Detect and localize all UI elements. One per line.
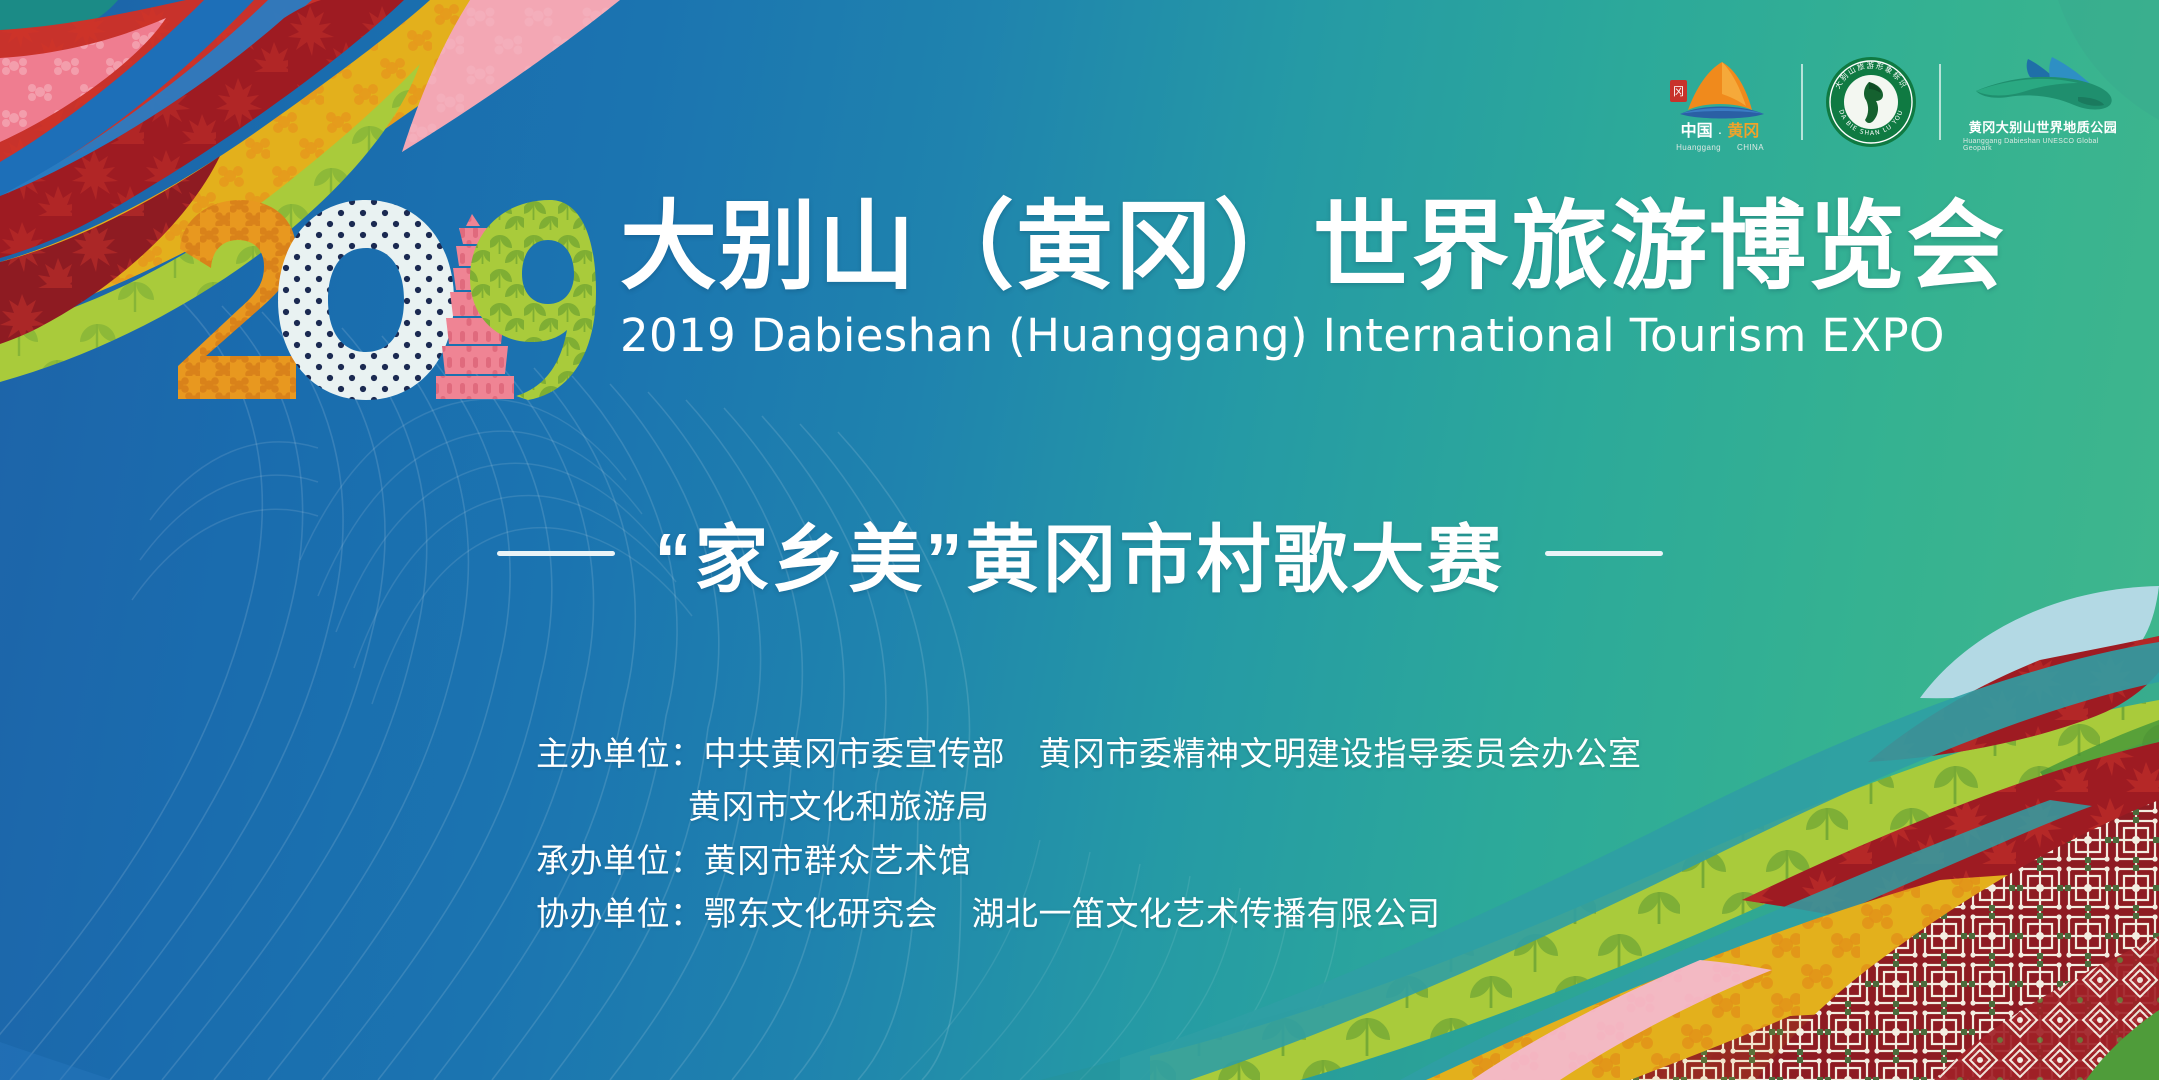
logo3-cn: 黄冈大别山世界地质公园 xyxy=(1969,117,2118,136)
logo1-en-left: Huanggang xyxy=(1676,143,1721,152)
geopark-mountain-icon xyxy=(1968,53,2118,115)
logo3-en: Huanggang Dabieshan UNESCO Global Geopar… xyxy=(1963,138,2123,152)
svg-text:冈: 冈 xyxy=(1673,86,1684,98)
credit-label-0: 主办单位： xyxy=(536,735,704,772)
year-logo-2019 xyxy=(170,196,610,406)
credit-line-cohost: 协办单位：鄂东文化研究会 湖北一笛文化艺术传播有限公司 xyxy=(536,887,1636,940)
rule-left xyxy=(497,551,615,556)
logo1-en-right: CHINA xyxy=(1737,143,1764,152)
credit-value-0: 中共黄冈市委宣传部 黄冈市委精神文明建设指导委员会办公室 xyxy=(704,735,1642,772)
credit-value-1: 黄冈市文化和旅游局 xyxy=(688,788,990,825)
event-title: “家乡美”黄冈市村歌大赛 xyxy=(655,500,1505,607)
credits-block: 主办单位：中共黄冈市委宣传部 黄冈市委精神文明建设指导委员会办公室 黄冈市文化和… xyxy=(536,727,1636,941)
logo-divider-1 xyxy=(1801,64,1803,140)
logo-bar: 冈 中国 · 黄冈 Huanggang CHINA xyxy=(1661,52,2123,152)
logo1-cn-right: 黄冈 xyxy=(1727,124,1759,140)
rule-right xyxy=(1545,551,1663,556)
ribbon-bottom-left-accent xyxy=(0,1042,112,1080)
title-block: 大别山（黄冈）世界旅游博览会 2019 Dabieshan (Huanggang… xyxy=(620,198,2020,360)
huanggang-mountain-icon: 冈 xyxy=(1666,52,1774,120)
event-title-row: “家乡美”黄冈市村歌大赛 xyxy=(0,500,2159,607)
logo-divider-2 xyxy=(1939,64,1941,140)
logo1-dot: · xyxy=(1718,124,1723,140)
credit-value-2: 黄冈市群众艺术馆 xyxy=(704,842,972,879)
dabieshan-tourism-seal: 大别山旅游形象标识 DA BIE SHAN LU YOU xyxy=(1825,56,1917,148)
main-title: 大别山（黄冈）世界旅游博览会 xyxy=(620,198,2020,297)
poster-canvas: 冈 中国 · 黄冈 Huanggang CHINA xyxy=(0,0,2159,1080)
credit-line-host: 承办单位：黄冈市群众艺术馆 xyxy=(536,834,1636,887)
credit-line-organizer-2: 黄冈市文化和旅游局 xyxy=(536,780,1636,833)
huanggang-china-logo: 冈 中国 · 黄冈 Huanggang CHINA xyxy=(1661,52,1779,152)
subtitle-english: 2019 Dabieshan (Huanggang) International… xyxy=(620,311,2020,361)
huanggang-geopark-logo: 黄冈大别山世界地质公园 Huanggang Dabieshan UNESCO G… xyxy=(1963,53,2123,152)
logo1-cn-left: 中国 xyxy=(1681,124,1713,140)
credit-value-3: 鄂东文化研究会 湖北一笛文化艺术传播有限公司 xyxy=(704,895,1441,932)
digit-0 xyxy=(278,200,454,400)
credit-label-2: 承办单位： xyxy=(536,842,704,879)
credit-line-organizer-1: 主办单位：中共黄冈市委宣传部 黄冈市委精神文明建设指导委员会办公室 xyxy=(536,727,1636,780)
credit-label-3: 协办单位： xyxy=(536,895,704,932)
